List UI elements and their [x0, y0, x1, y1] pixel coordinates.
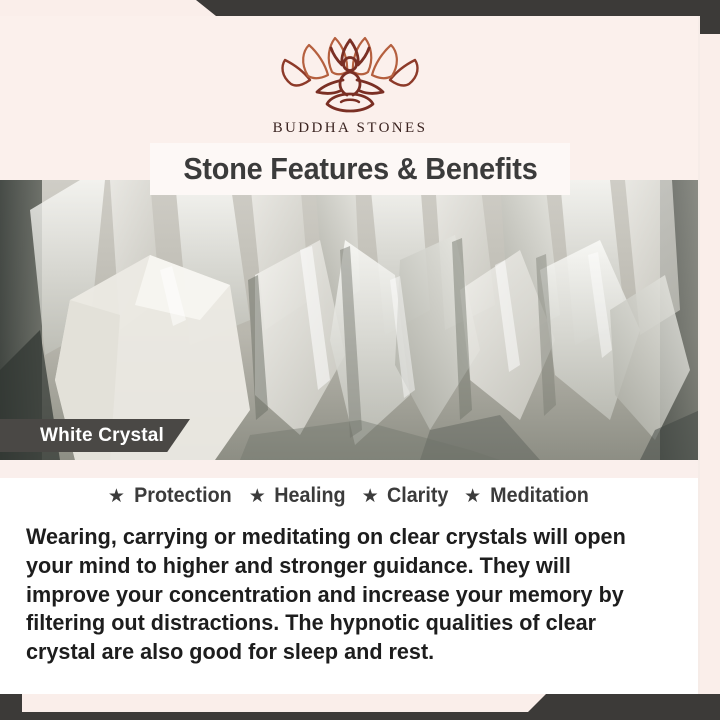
star-icon: ★ [249, 487, 266, 506]
benefit-item-protection: ★ Protection [108, 484, 235, 508]
description-paragraph: Wearing, carrying or meditating on clear… [26, 523, 660, 667]
benefit-label: Protection [134, 484, 232, 508]
benefit-item-clarity: ★ Clarity [362, 484, 450, 508]
title-band: Stone Features & Benefits [150, 143, 570, 195]
card-edge-hairline [698, 16, 700, 694]
benefit-item-meditation: ★ Meditation [464, 484, 592, 508]
stone-name-ribbon: White Crystal [0, 419, 190, 452]
content-card: BUDDHA STONES [0, 16, 700, 694]
infographic-page: BUDDHA STONES [0, 0, 720, 720]
star-icon: ★ [108, 487, 125, 506]
star-icon: ★ [362, 487, 379, 506]
brand-logo: BUDDHA STONES [0, 32, 700, 137]
benefit-label: Meditation [490, 484, 589, 508]
hero-image [0, 180, 700, 460]
benefit-label: Healing [274, 484, 345, 508]
white-crystal-cluster-photo [0, 180, 700, 460]
stone-name-label: White Crystal [40, 425, 164, 447]
lotus-meditation-icon [275, 32, 425, 118]
brand-name: BUDDHA STONES [0, 120, 700, 137]
page-title: Stone Features & Benefits [183, 151, 537, 187]
benefits-row: ★ Protection ★ Healing ★ Clarity ★ Medit… [0, 484, 700, 508]
star-icon: ★ [464, 487, 481, 506]
content-tint-strip [0, 460, 700, 478]
content-section: ★ Protection ★ Healing ★ Clarity ★ Medit… [0, 460, 700, 694]
benefit-item-healing: ★ Healing [249, 484, 348, 508]
benefit-label: Clarity [387, 484, 448, 508]
